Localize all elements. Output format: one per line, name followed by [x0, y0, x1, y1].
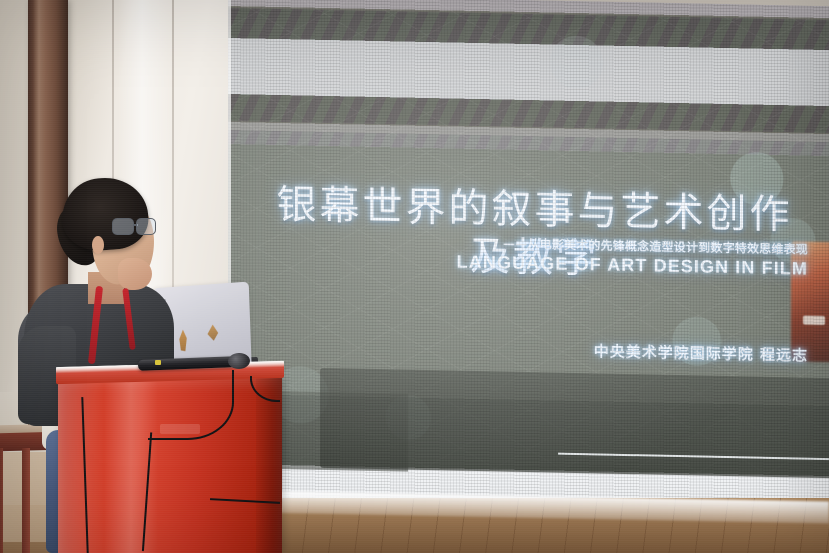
presenter-chin	[118, 258, 152, 290]
power-cable-left	[81, 395, 150, 553]
microphone-indicator-icon	[155, 360, 161, 365]
eyeglass-lens-left	[112, 218, 134, 235]
presenter-ear	[92, 236, 104, 254]
audio-cable-lower	[142, 432, 202, 553]
lectern-right-edge	[256, 378, 282, 553]
slide-thumbnail-highlight	[803, 316, 825, 325]
projection-screen: 银幕世界的叙事与艺术创作及教学 ——从电影美术的先锋概念造型设计到数字特效思维表…	[228, 0, 829, 518]
eyeglass-lens-right	[136, 218, 156, 235]
eyeglasses-icon	[112, 218, 160, 236]
lecture-photo-scene: 银幕世界的叙事与艺术创作及教学 ——从电影美术的先锋概念造型设计到数字特效思维表…	[0, 0, 829, 553]
slide-dark-panel	[320, 368, 829, 478]
slide-film-thumbnail	[791, 241, 829, 362]
presenter-hair	[60, 175, 151, 253]
